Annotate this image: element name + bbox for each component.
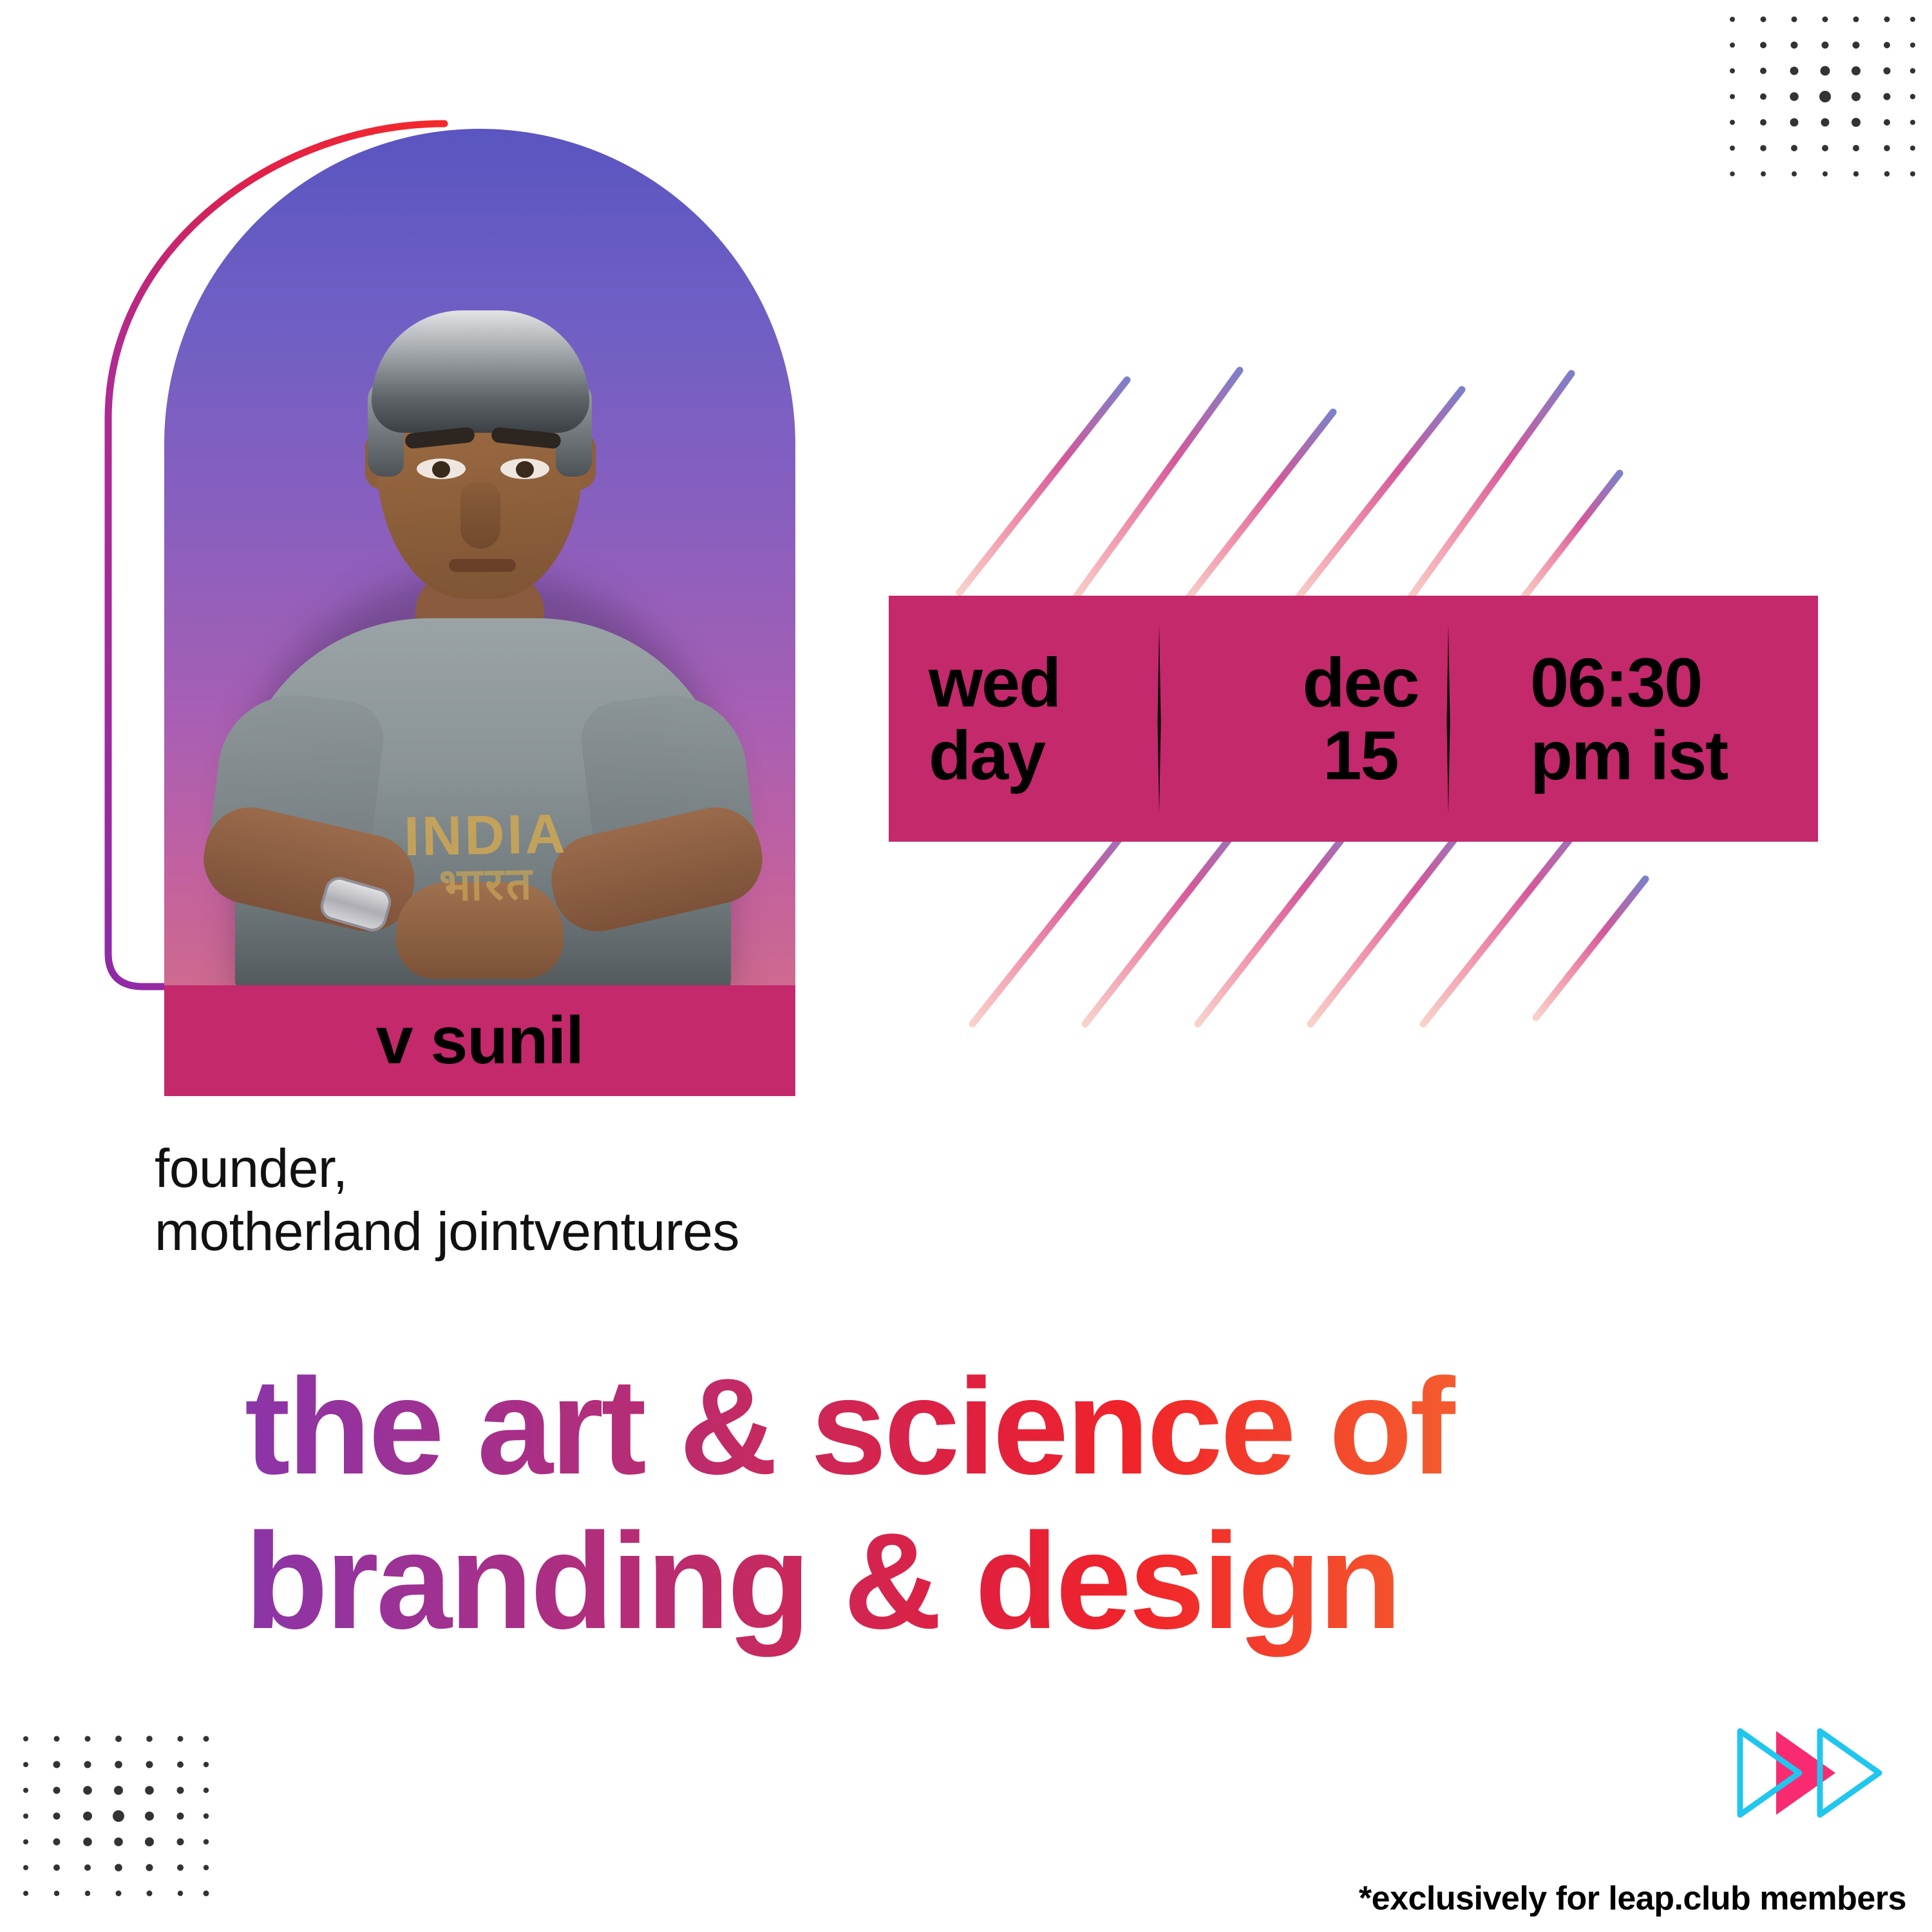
event-day-line2: day [929, 719, 1045, 791]
event-month: dec [1302, 646, 1418, 719]
dot-grid-bottom-left [13, 1726, 219, 1913]
footer-note: *exclusively for leap.club members [1359, 1879, 1906, 1918]
datetime-time-column: 06:30 pm ist [1504, 646, 1818, 792]
event-poster: INDIA भारत v sunil founder, motherland j… [0, 0, 1932, 1932]
speaker-role-line2: motherland jointventures [155, 1200, 1121, 1263]
speaker-name-band: v sunil [164, 985, 795, 1096]
event-day-line1: wed [929, 646, 1060, 719]
headline-line-2: branding & design [245, 1504, 1823, 1658]
event-meridiem-timezone: pm ist [1530, 719, 1727, 791]
speaker-portrait: INDIA भारत [164, 129, 795, 992]
banner-divider-2 [1446, 625, 1451, 813]
banner-divider-1 [1157, 625, 1162, 813]
leap-club-logo [1732, 1725, 1900, 1821]
event-time: 06:30 [1530, 646, 1701, 719]
tshirt-graphic: INDIA भारत [357, 806, 616, 909]
event-date: 15 [1323, 719, 1397, 791]
speaker-figure: INDIA भारत [164, 129, 795, 992]
page-title: the art & science of branding & design [245, 1349, 1823, 1658]
speaker-name: v sunil [376, 1003, 583, 1079]
speaker-role: founder, motherland jointventures [155, 1137, 1121, 1264]
datetime-day-column: wed day [889, 646, 1217, 792]
dot-grid-top-right [1719, 6, 1926, 193]
datetime-date-column: dec 15 [1217, 646, 1504, 792]
tshirt-text-main: INDIA [404, 803, 569, 867]
chevron-solid-icon [1776, 1731, 1835, 1815]
tshirt-text-sub: भारत [357, 860, 616, 909]
headline-line-1: the art & science of [245, 1350, 1453, 1502]
speaker-role-line1: founder, [155, 1137, 1121, 1200]
event-datetime-banner: wed day dec 15 06:30 pm ist [889, 596, 1818, 842]
